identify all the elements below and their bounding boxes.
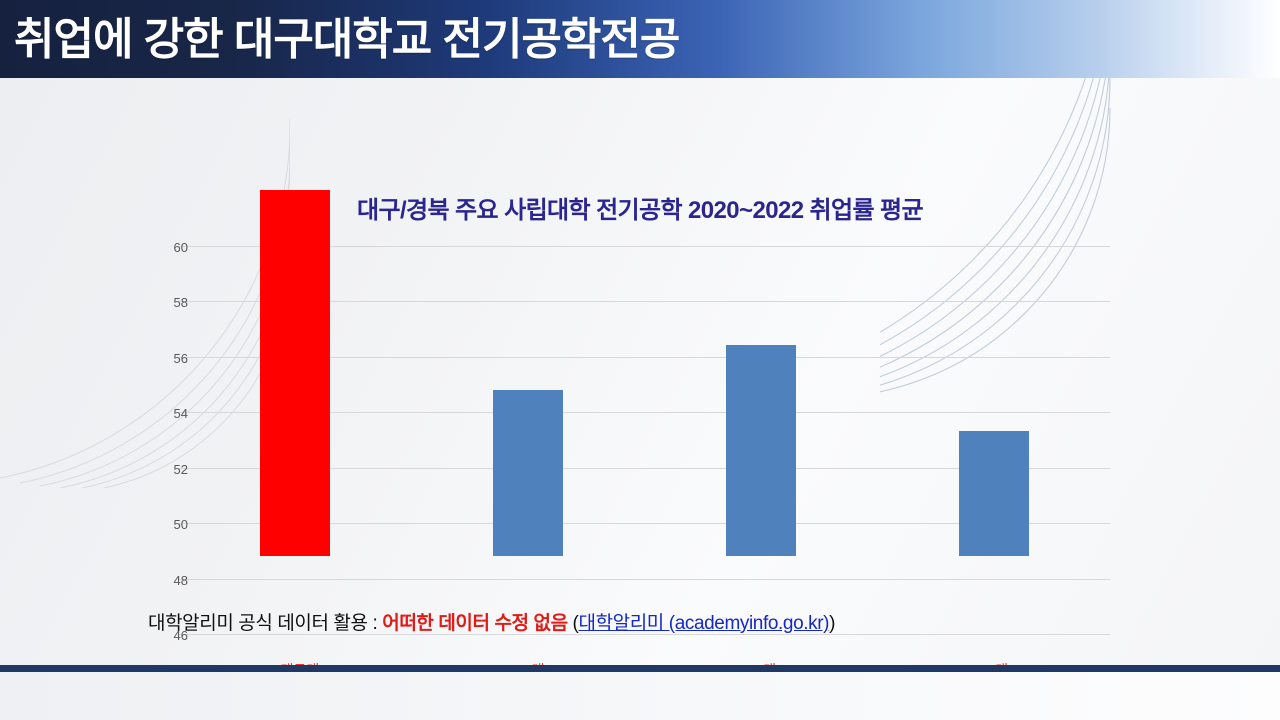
header-banner: 취업에 강한 대구대학교 전기공학전공 [0,0,1280,78]
source-note-paren-open: ( [568,613,579,634]
gridline-48 [178,579,1110,580]
source-note: 대학알리미 공식 데이터 활용 : 어떠한 데이터 수정 없음 (대학알리미 (… [148,608,1148,635]
bar-d-univ[interactable] [493,390,563,556]
bar-chart: 대구/경북 주요 사립대학 전기공학 2020~2022 취업률 평균 60 5… [0,78,1280,665]
bar-daegu-univ[interactable] [260,190,330,556]
footer-accent-bar [0,665,1280,672]
source-note-prefix: 대학알리미 공식 데이터 활용 : [148,613,382,634]
bars-layer [178,168,1110,556]
bar-k-univ[interactable] [726,345,796,556]
footer-area [0,672,1280,720]
y-axis-tick-46: 46 [148,635,188,636]
source-note-paren-close: ) [829,613,835,634]
source-note-emphasis: 어떠한 데이터 수정 없음 [382,613,567,634]
source-link[interactable]: 대학알리미 (academyinfo.go.kr) [578,613,829,634]
page-title: 취업에 강한 대구대학교 전기공학전공 [14,3,679,67]
y-axis-tick-48: 48 [148,580,188,581]
bar-y-univ[interactable] [959,431,1029,556]
